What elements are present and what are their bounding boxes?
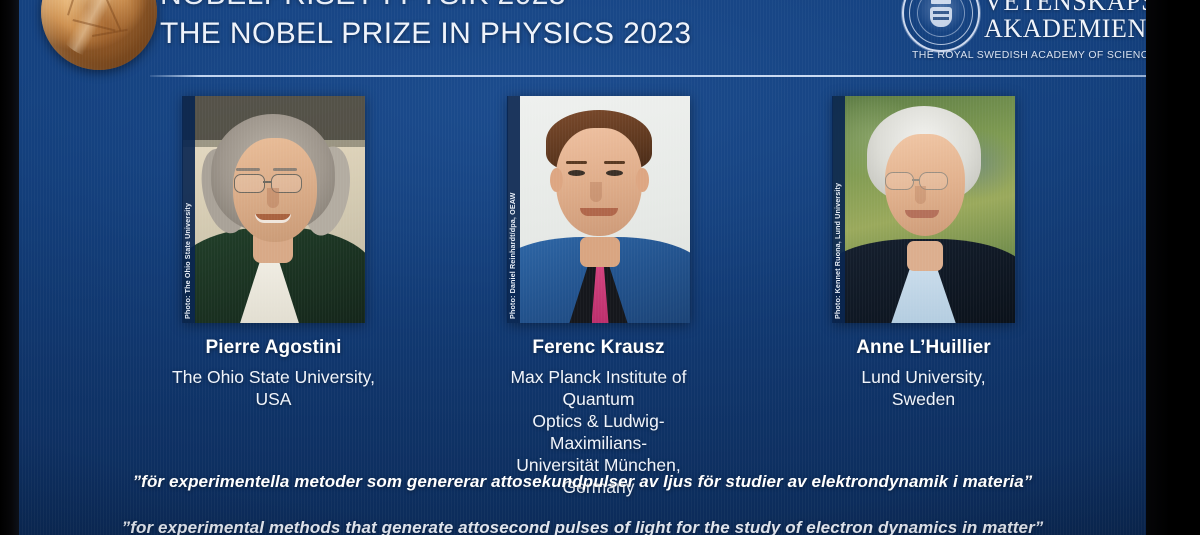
laureate-affiliation-line: The Ohio State University,: [166, 366, 381, 388]
screen-bezel-left: [0, 0, 19, 535]
laureate-card-agostini: Photo: The Ohio State University Pierre …: [166, 96, 381, 410]
nobel-prize-slide: NOBELPRISET I FYSIK 2023 THE NOBEL PRIZE…: [19, 0, 1146, 535]
page-title-swedish: NOBELPRISET I FYSIK 2023: [160, 0, 800, 12]
photo-credit-krausz: Photo: Daniel Reinhardt/dpa, OEAW: [507, 96, 520, 323]
laureate-portrait-lhuillier: [833, 96, 1015, 323]
nobel-medal-icon: [41, 0, 157, 70]
laureate-name: Pierre Agostini: [166, 337, 381, 359]
laureate-affiliation-line: Max Planck Institute of Quantum: [491, 366, 706, 410]
slide-title-block: NOBELPRISET I FYSIK 2023 THE NOBEL PRIZE…: [160, 0, 800, 52]
academy-name-line2: AKADEMIEN: [984, 15, 1146, 42]
screen-bezel-right: [1146, 0, 1200, 535]
laureate-affiliation-line: USA: [166, 388, 381, 410]
laureate-portrait-agostini: [183, 96, 365, 323]
photo-credit-agostini: Photo: The Ohio State University: [182, 96, 195, 323]
royal-academy-crest-icon: [902, 0, 980, 52]
laureate-affiliation-line: Sweden: [816, 388, 1031, 410]
header-divider: [150, 75, 1146, 77]
laureate-name: Anne L’Huillier: [816, 337, 1031, 359]
laureate-name: Ferenc Krausz: [491, 337, 706, 359]
laureates-row: Photo: The Ohio State University Pierre …: [19, 96, 1146, 346]
laureate-photo-frame: Photo: Kennet Ruona, Lund University: [833, 96, 1015, 323]
citation-swedish: ”för experimentella metoder som generera…: [19, 472, 1146, 492]
academy-name-line1: VETENSKAPS-: [984, 0, 1146, 15]
laureate-photo-frame: Photo: Daniel Reinhardt/dpa, OEAW: [508, 96, 690, 323]
photo-credit-lhuillier: Photo: Kennet Ruona, Lund University: [832, 96, 845, 323]
page-title-english: THE NOBEL PRIZE IN PHYSICS 2023: [160, 16, 800, 52]
laureate-affiliation-line: Lund University,: [816, 366, 1031, 388]
presentation-screen-photo: NOBELPRISET I FYSIK 2023 THE NOBEL PRIZE…: [0, 0, 1200, 535]
citation-english: ”for experimental methods that generate …: [19, 518, 1146, 535]
laureate-card-lhuillier: Photo: Kennet Ruona, Lund University Ann…: [816, 96, 1031, 410]
laureate-affiliation-line: Optics & Ludwig-Maximilians-: [491, 410, 706, 454]
laureate-portrait-krausz: [508, 96, 690, 323]
laureate-photo-frame: Photo: The Ohio State University: [183, 96, 365, 323]
academy-logo: VETENSKAPS- AKADEMIEN THE ROYAL SWEDISH …: [912, 0, 1146, 61]
laureate-card-krausz: Photo: Daniel Reinhardt/dpa, OEAW Ferenc…: [491, 96, 706, 498]
